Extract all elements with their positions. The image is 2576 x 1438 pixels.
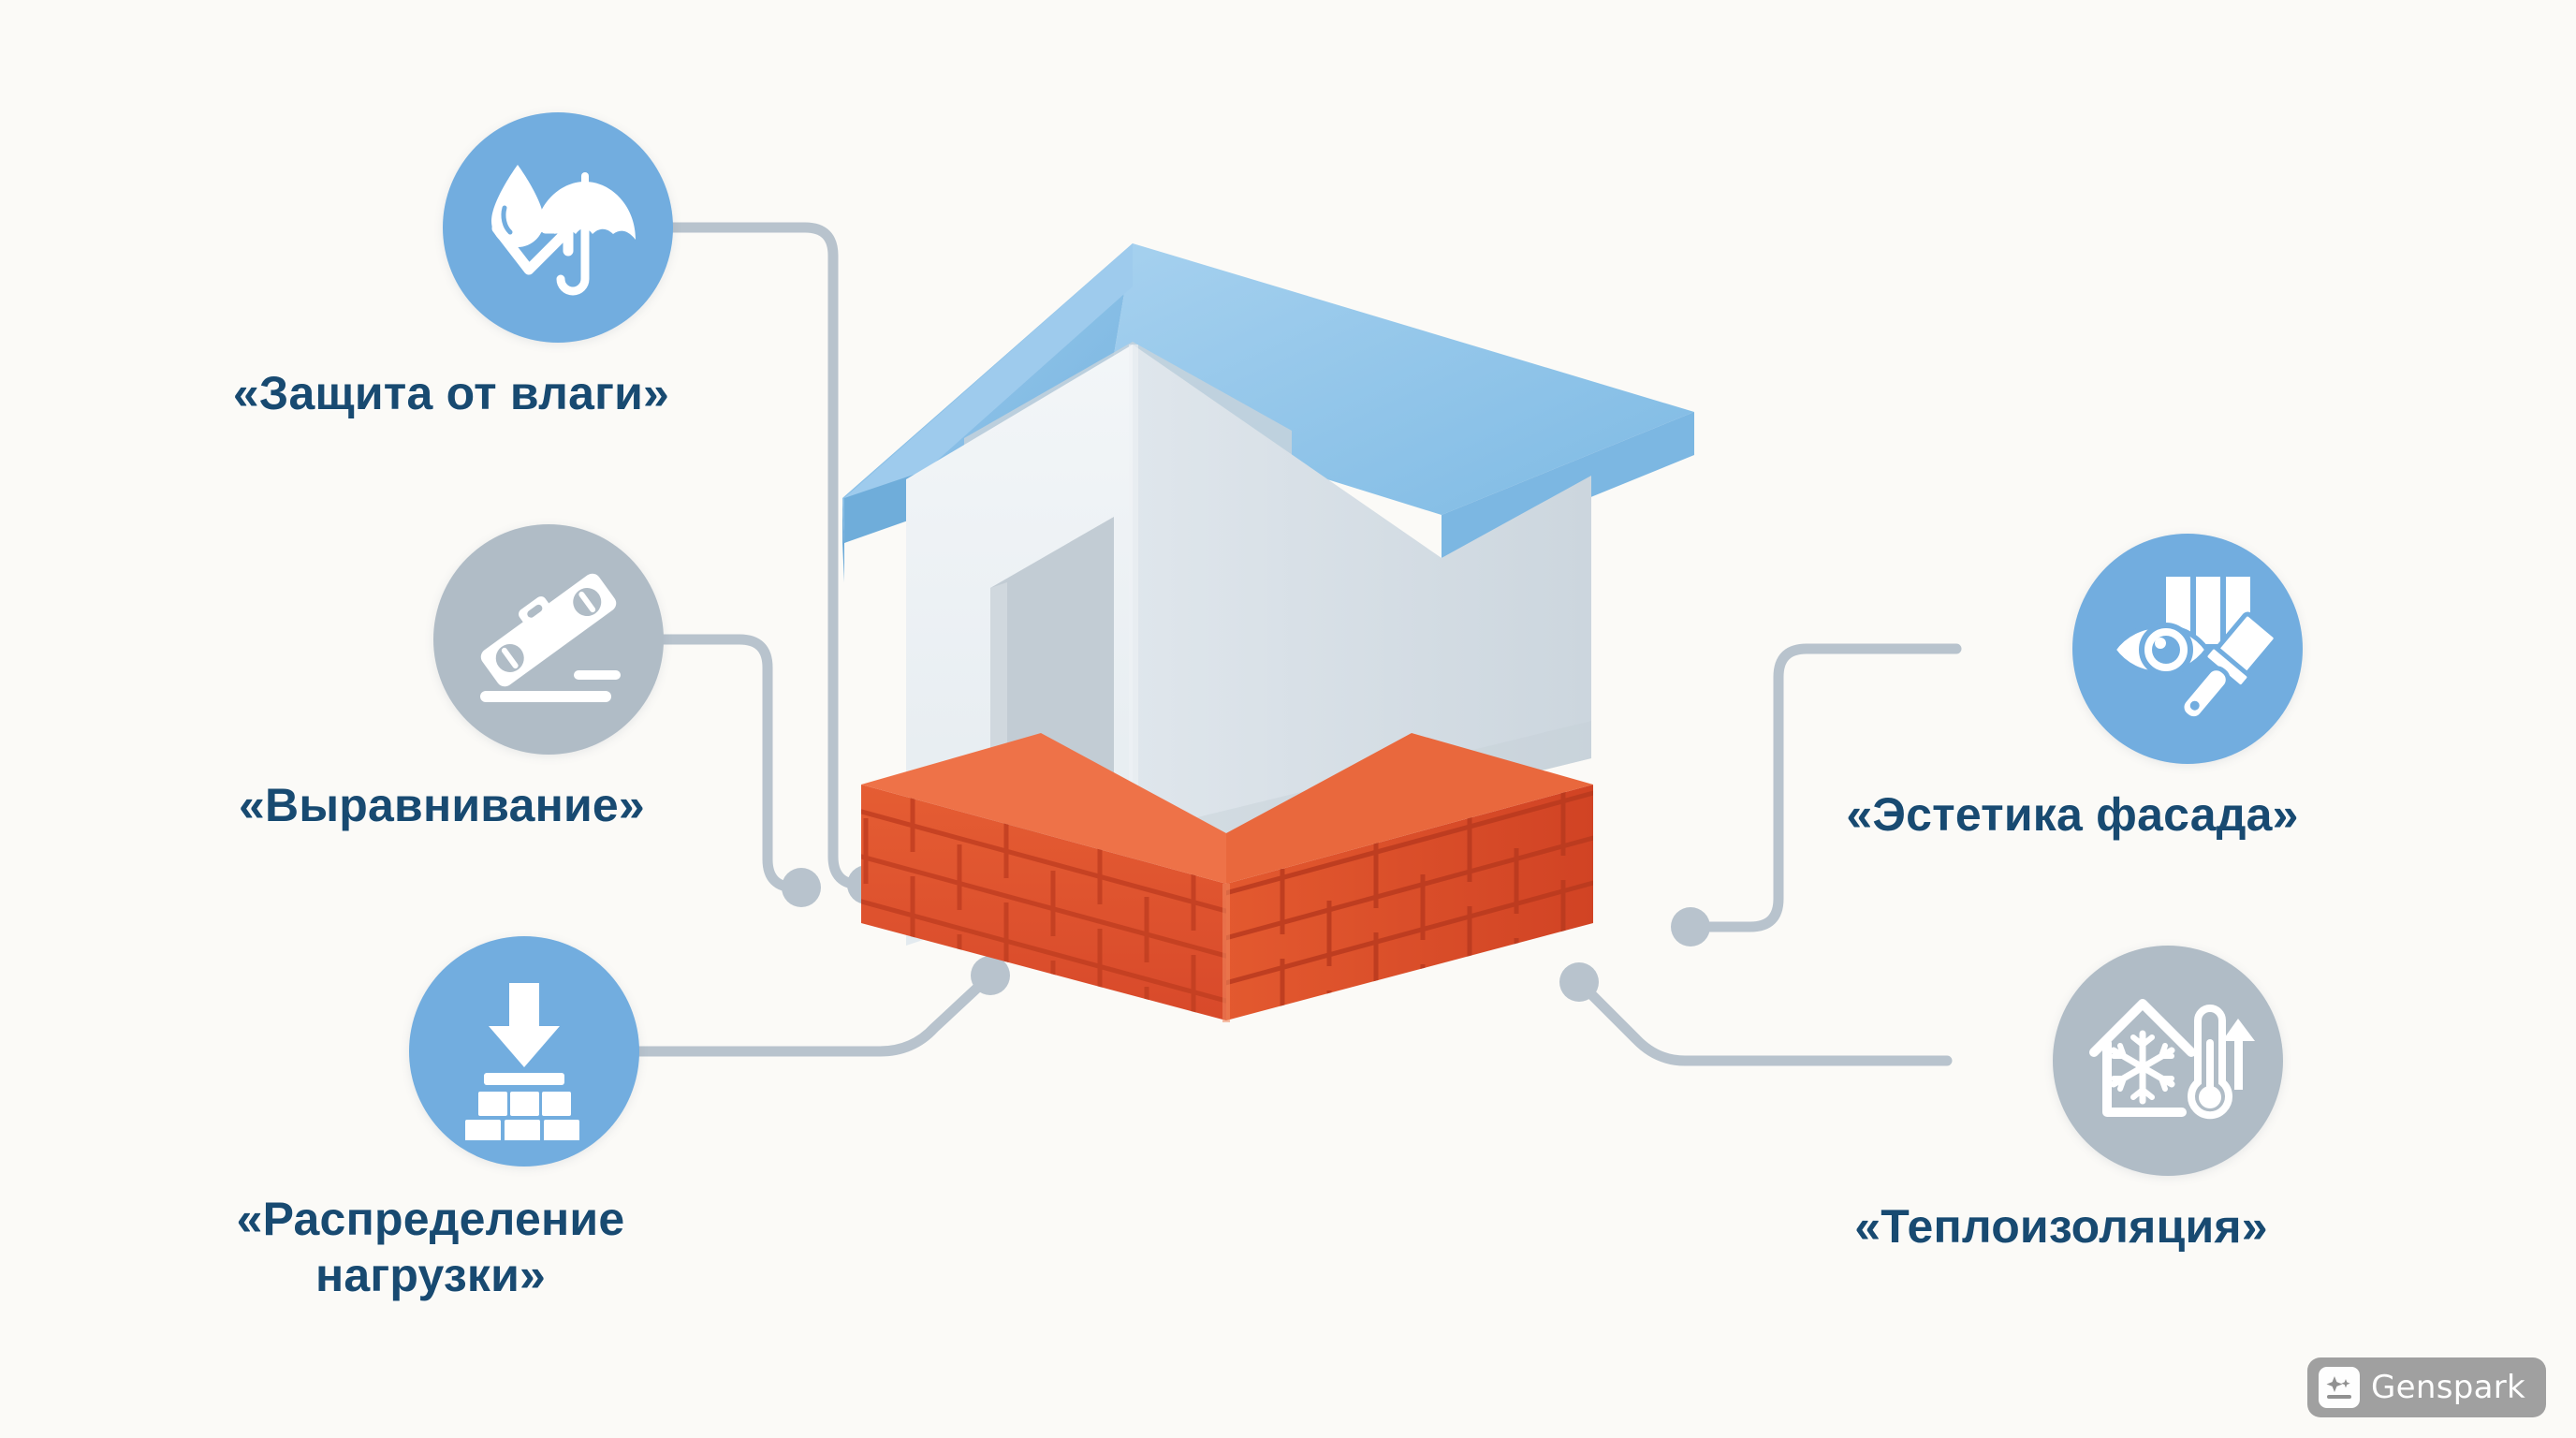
spirit-level-icon <box>460 550 637 728</box>
snowflake-icon <box>2114 1034 2172 1101</box>
eye-icon <box>2114 625 2207 674</box>
infographic-canvas: «Защита от влаги» «Выравнивание» <box>0 0 2576 1438</box>
node-label-aesthetics: «Эстетика фасада» <box>1726 788 2419 841</box>
level-base-line-icon <box>480 691 611 702</box>
node-load-distribution[interactable]: «Распределение нагрузки» <box>318 936 730 1303</box>
up-arrow-icon <box>2222 1019 2255 1090</box>
node-label-leveling: «Выравнивание» <box>114 779 769 831</box>
thermometer-icon <box>2191 1008 2229 1115</box>
node-label-thermal: «Теплоизоляция» <box>1734 1200 2389 1253</box>
bearing-plate-icon <box>484 1073 564 1085</box>
node-label-moisture: «Защита от влаги» <box>124 367 779 419</box>
moisture-circle[interactable] <box>443 112 673 343</box>
node-thermal-insulation[interactable]: «Теплоизоляция» <box>1947 946 2389 1253</box>
down-arrow-icon <box>489 983 560 1067</box>
watermark-label: Genspark <box>2371 1369 2525 1406</box>
connector-dot-leveling <box>782 868 821 907</box>
node-leveling[interactable]: «Выравнивание» <box>328 524 769 831</box>
node-moisture-protection[interactable]: «Защита от влаги» <box>337 112 779 419</box>
thermal-circle[interactable] <box>2053 946 2283 1176</box>
load-circle[interactable] <box>409 936 639 1167</box>
leveling-circle[interactable] <box>433 524 664 755</box>
moisture-protection-icon <box>469 139 647 316</box>
node-label-load: «Распределение нагрузки» <box>131 1191 730 1303</box>
brick-courses-icon <box>465 1092 579 1140</box>
level-reference-mark-icon <box>574 670 621 680</box>
facade-aesthetics-icon <box>2099 560 2276 738</box>
thermal-insulation-icon <box>2079 972 2257 1150</box>
genspark-watermark: Genspark <box>2307 1357 2546 1417</box>
node-facade-aesthetics[interactable]: «Эстетика фасада» <box>1956 534 2419 841</box>
aesthetics-circle[interactable] <box>2072 534 2303 764</box>
sparkle-icon <box>2319 1367 2360 1408</box>
load-distribution-icon <box>435 962 613 1140</box>
isometric-house-illustration <box>824 234 1722 1058</box>
